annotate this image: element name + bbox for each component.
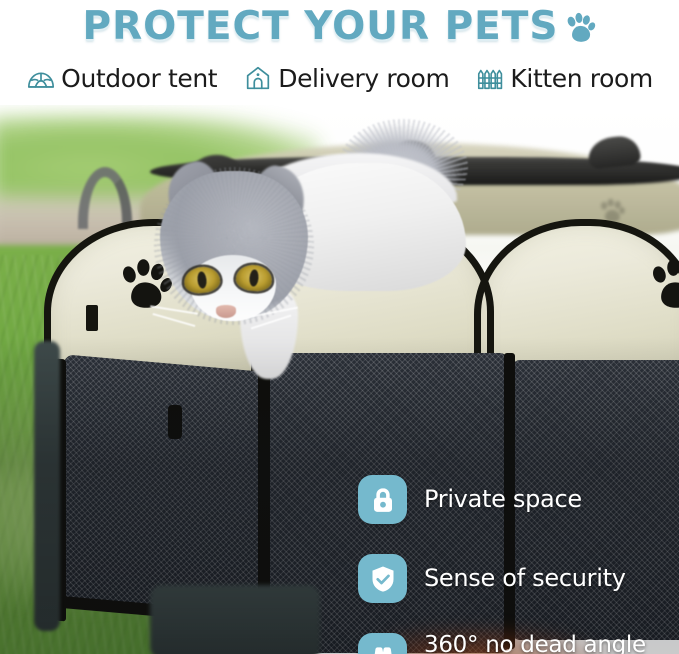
feature-label: Sense of security [424,566,626,591]
feature-badge [358,554,407,603]
category-kitten-room: Kitten room [475,63,652,93]
tent-fabric-tab [86,305,98,331]
feature-list: Private space Sense of security [358,475,679,654]
feature-360-observation: 360° no dead angle observation [358,633,679,654]
feature-label: 360° no dead angle observation [424,633,679,654]
fence-icon [475,63,505,93]
tent-handle-left [78,167,132,229]
category-label: Kitten room [510,64,652,93]
paw-print-icon [563,11,597,45]
tent-mesh-left [64,354,264,621]
title-row: PROTECT YOUR PETS [0,2,679,50]
category-outdoor-tent: Outdoor tent [26,63,217,93]
kitten-whisker [153,313,196,327]
tent-handle-right-2 [587,134,642,169]
feature-label: Private space [424,487,582,512]
product-photo: Private space Sense of security [0,105,679,654]
category-label: Outdoor tent [61,64,217,93]
feature-badge [358,475,407,524]
lock-icon [368,485,398,515]
feature-private-space: Private space [358,475,679,524]
header: PROTECT YOUR PETS [0,0,679,105]
category-label: Delivery room [278,64,449,93]
feature-badge [358,633,407,654]
category-delivery-room: Delivery room [243,63,449,93]
tent-frame-left [34,341,60,631]
paw-print-icon [648,257,679,313]
page-title: PROTECT YOUR PETS [82,4,558,49]
tent-base-left [150,585,320,654]
category-row: Outdoor tent Delivery room [0,56,679,100]
binoculars-icon [368,643,398,654]
shield-check-icon [368,564,398,594]
tent-zipper-pull [168,405,182,439]
product-infographic: PROTECT YOUR PETS [0,0,679,654]
house-icon [243,63,273,93]
kitten [132,119,462,379]
tent-icon [26,63,56,93]
kitten-nose [216,305,236,318]
feature-sense-of-security: Sense of security [358,554,679,603]
